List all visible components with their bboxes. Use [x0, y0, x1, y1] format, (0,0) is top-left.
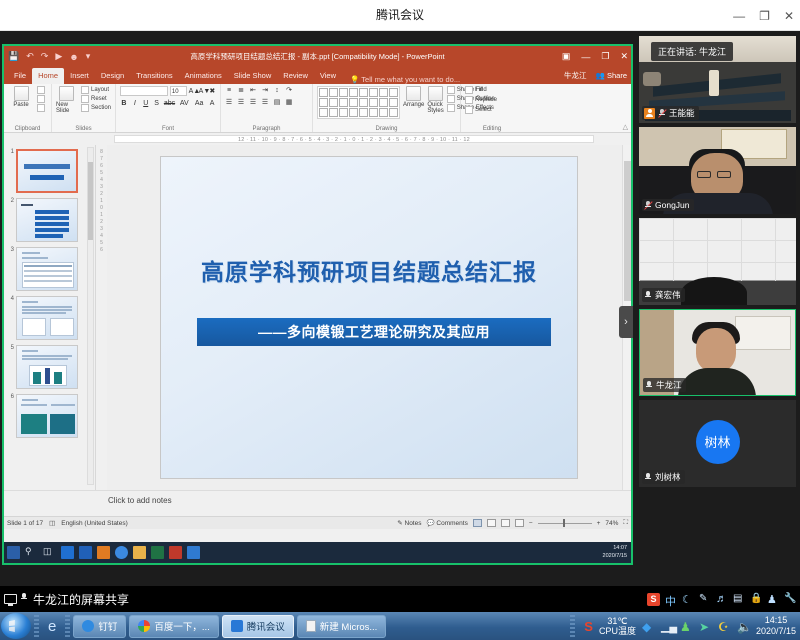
thumbnail-preview[interactable]	[16, 247, 78, 291]
tab-transitions[interactable]: Transitions	[130, 68, 178, 84]
decrease-font-size-icon[interactable]: A▼	[199, 88, 207, 95]
share-status-icons	[4, 593, 29, 605]
shape-oval-icon	[369, 88, 378, 97]
slide-title-text[interactable]: 高原学科预研项目结题总结汇报	[161, 253, 577, 287]
participant-tile-gongjun[interactable]: GongJun	[639, 127, 796, 214]
screen: 腾讯会议 — ❐ ✕ 💾 ↶ ↷ ▶ ☻ ▾ 高原学科预研项目结题总结汇报 - …	[0, 0, 800, 640]
arrange-button[interactable]: Arrange	[403, 86, 424, 108]
shape-brace-right-icon	[369, 108, 378, 117]
shape-arrowdown-icon	[369, 98, 378, 107]
inner-windows-taskbar: ⚲ ◫ 14:07 2020/7/15	[4, 542, 631, 563]
app-icon[interactable]	[79, 546, 92, 559]
search-icon[interactable]: ⚲	[25, 546, 38, 559]
wrench-icon[interactable]: 🔧	[784, 593, 796, 605]
mic-icon[interactable]: ♬	[716, 593, 728, 605]
close-icon[interactable]: ✕	[784, 10, 794, 22]
taskbar-separator	[34, 615, 39, 637]
tell-me-placeholder: Tell me what you want to do...	[361, 75, 460, 84]
start-icon[interactable]	[7, 546, 20, 559]
store-icon[interactable]	[61, 546, 74, 559]
participant-tile-gonghongwei[interactable]: 龚宏伟	[639, 218, 796, 305]
underline-button[interactable]: U	[142, 100, 150, 107]
thumbnail-number: 6	[6, 394, 16, 400]
vertical-ruler-ticks: 876543210123456	[100, 149, 103, 253]
thumbnail-item-5[interactable]: 5	[6, 345, 93, 389]
layout-button[interactable]: Layout	[81, 86, 111, 94]
shape-gallery[interactable]	[317, 86, 400, 119]
shape-wave-icon	[349, 108, 358, 117]
powerpoint-titlebar: 💾 ↶ ↷ ▶ ☻ ▾ 高原学科预研项目结题总结汇报 - 副本.ppt [Com…	[4, 46, 631, 67]
cpu-temp-label: CPU温度	[599, 626, 636, 636]
person-icon[interactable]: ♟	[767, 593, 779, 605]
thumbnail-number: 3	[6, 247, 16, 253]
powerpoint-document-title: 高原学科预研项目结题总结汇报 - 副本.ppt [Compatibility M…	[4, 46, 631, 67]
select-button[interactable]: Select	[465, 106, 497, 114]
layout-label: Layout	[91, 87, 109, 93]
slide-counter: Slide 1 of 17	[7, 520, 43, 527]
tell-me-search-box[interactable]: 💡 Tell me what you want to do...	[342, 75, 460, 84]
participant-name: GongJun	[655, 200, 690, 210]
thumbnail-scrollbar-thumb[interactable]	[88, 162, 93, 240]
powerpoint-status-bar: Slide 1 of 17 ◫ English (United States) …	[4, 516, 631, 529]
thumbnail-preview[interactable]	[16, 198, 78, 242]
shape-line-icon	[339, 88, 348, 97]
tencent-meeting-icon	[231, 620, 243, 632]
powerpoint-window: 💾 ↶ ↷ ▶ ☻ ▾ 高原学科预研项目结题总结汇报 - 副本.ppt [Com…	[4, 46, 631, 563]
volume-icon[interactable]: 🔈	[737, 620, 750, 633]
arrange-label: Arrange	[403, 102, 424, 108]
slide-scrollbar-thumb[interactable]	[624, 161, 631, 301]
ribbon-group-clipboard: Paste Clipboard	[4, 84, 52, 132]
increase-font-size-icon[interactable]: A▲	[189, 88, 197, 95]
soft-keyboard-icon[interactable]: ✎	[699, 593, 711, 605]
participant-tile-niulongjiang[interactable]: 牛龙江	[639, 309, 796, 396]
tab-animations[interactable]: Animations	[179, 68, 228, 84]
group-label-font: Font	[116, 126, 220, 132]
notes-placeholder: Click to add notes	[108, 496, 172, 505]
group-label-editing: Editing	[461, 126, 523, 132]
chrome-green-icon[interactable]	[97, 546, 110, 559]
notes-label: Notes	[405, 520, 422, 527]
justify-icon[interactable]: ☰	[261, 98, 269, 106]
numbering-icon[interactable]: ≣	[237, 86, 245, 94]
ribbon-group-font: 10 A▲ A▼ ✖ B I U S abc AV Aa	[116, 84, 221, 132]
excel-icon[interactable]	[151, 546, 164, 559]
participant-label: 刘树林	[642, 470, 685, 484]
shape-fill-icon	[447, 86, 455, 94]
shape-brace-left-icon	[359, 108, 368, 117]
shape-more-icon	[379, 88, 388, 97]
shape-spacer-icon	[389, 98, 398, 107]
collapse-ribbon-icon[interactable]: △	[623, 123, 628, 131]
restore-icon[interactable]: ❐	[601, 51, 609, 62]
participant-label: GongJun	[642, 199, 694, 211]
lightbulb-icon: 💡	[350, 75, 359, 84]
line-spacing-icon[interactable]: ↕	[273, 87, 281, 94]
shape-scroll-icon	[389, 88, 398, 97]
minimize-icon[interactable]: —	[733, 10, 745, 22]
thumbnail-number: 5	[6, 345, 16, 351]
shape-triangle-icon	[329, 98, 338, 107]
powerpoint-icon[interactable]	[169, 546, 182, 559]
copy-button[interactable]	[37, 95, 45, 103]
chevron-right-icon: ›	[624, 316, 628, 328]
participant-name: 龚宏伟	[655, 289, 681, 301]
tab-home[interactable]: Home	[32, 68, 64, 84]
screen-share-label: 牛龙江的屏幕共享	[33, 591, 129, 608]
inner-taskbar-clock[interactable]: 14:07 2020/7/15	[603, 544, 627, 560]
new-slide-label: New Slide	[56, 102, 78, 114]
close-icon[interactable]: ✕	[620, 51, 628, 62]
ribbon-tab-strip: File Home Insert Design Transitions Anim…	[4, 67, 631, 84]
convert-to-smartart-icon[interactable]: ▦	[285, 98, 293, 106]
titlebar-right-controls: 牛龙江 👥 Share	[564, 70, 627, 81]
clock-date: 2020/7/15	[756, 626, 796, 636]
zoom-level: 74%	[605, 520, 618, 527]
ribbon-group-drawing: Arrange Quick Styles Shape Fill Shape Ou…	[313, 84, 461, 132]
character-spacing-button[interactable]: AV	[178, 100, 190, 107]
group-label-slides: Slides	[52, 126, 115, 132]
maximize-icon[interactable]: ❐	[759, 10, 770, 22]
paste-icon	[14, 86, 29, 101]
shape-outline-icon	[447, 95, 455, 103]
collapse-video-panel-button[interactable]: ›	[619, 306, 633, 338]
microphone-icon	[20, 593, 29, 605]
group-label-clipboard: Clipboard	[4, 126, 51, 132]
quick-styles-button[interactable]: Quick Styles	[427, 86, 443, 114]
inner-clock-time: 14:07	[603, 544, 627, 552]
shape-arrow-icon	[349, 88, 358, 97]
quick-launch-bar: e	[42, 618, 62, 635]
thumbnail-item-4[interactable]: 4	[6, 296, 93, 340]
input-method-tray: S 中 ☾ ✎ ♬ ▤ 🔒 ♟ 🔧	[647, 586, 796, 612]
thumbnail-preview[interactable]	[16, 149, 78, 193]
taskbar-button-label: 钉钉	[98, 619, 117, 633]
shape-arc-icon	[339, 108, 348, 117]
chrome-icon	[138, 620, 150, 632]
quick-styles-icon	[428, 86, 443, 101]
format-painter-icon	[37, 104, 45, 112]
meeting-icon[interactable]	[187, 546, 200, 559]
share-button[interactable]: 👥 Share	[596, 71, 627, 80]
tab-slide-show[interactable]: Slide Show	[228, 68, 278, 84]
reading-view-icon[interactable]	[501, 519, 510, 527]
vertical-ruler: 876543210123456	[96, 145, 107, 490]
group-label-paragraph: Paragraph	[221, 126, 312, 132]
notes-pane[interactable]: Click to add notes	[4, 490, 631, 516]
horizontal-ruler: 12 · 11 · 10 · 9 · 8 · 7 · 6 · 5 · 4 · 3…	[4, 133, 631, 145]
search-icon	[465, 86, 473, 94]
section-icon	[81, 104, 89, 112]
powerpoint-main-area: 1 2	[4, 145, 631, 490]
microphone-muted-icon	[658, 109, 666, 118]
shared-screen-region: 💾 ↶ ↷ ▶ ☻ ▾ 高原学科预研项目结题总结汇报 - 副本.ppt [Com…	[2, 44, 633, 565]
zoom-out-button[interactable]: −	[529, 520, 533, 527]
chrome-icon[interactable]	[115, 546, 128, 559]
thumbnail-number: 1	[6, 149, 16, 155]
microphone-icon	[644, 473, 652, 482]
language-indicator[interactable]: English (United States)	[61, 520, 127, 527]
select-icon	[465, 106, 473, 114]
meeting-window-title: 腾讯会议	[0, 0, 800, 31]
start-button[interactable]	[1, 613, 31, 639]
thumbnail-preview[interactable]	[16, 394, 78, 438]
shape-textbox-icon	[329, 88, 338, 97]
align-right-icon[interactable]: ☰	[249, 98, 257, 106]
thumbnail-item-6[interactable]: 6	[6, 394, 93, 438]
clear-formatting-icon[interactable]: ✖	[209, 87, 216, 95]
cpu-temp-value: 31℃	[607, 616, 627, 626]
ribbon-group-paragraph: ≡ ≣ ⇤ ⇥ ↕ ↷ ☰ ☰ ☰ ☰ ▤	[221, 84, 313, 132]
speedup-icon[interactable]: ➤	[699, 620, 712, 633]
font-name-input[interactable]	[120, 86, 168, 96]
word-doc-icon	[306, 620, 316, 632]
reset-icon	[81, 95, 89, 103]
bold-button[interactable]: B	[120, 100, 128, 107]
slideshow-icon[interactable]	[515, 519, 524, 527]
account-name[interactable]: 牛龙江	[564, 70, 587, 81]
paste-button[interactable]: Paste	[8, 86, 34, 108]
ribbon-display-options-icon[interactable]: ▣	[562, 51, 571, 62]
participant-video-strip: 正在讲话: 牛龙江 王能能	[637, 34, 798, 584]
section-button[interactable]: Section	[81, 104, 111, 112]
shape-rect-icon	[319, 88, 328, 97]
shape-square-icon	[359, 88, 368, 97]
select-label: Select	[475, 107, 492, 113]
font-size-input[interactable]: 10	[170, 86, 187, 96]
taskbar-separator	[65, 615, 70, 637]
tab-file[interactable]: File	[8, 68, 32, 84]
copy-icon	[37, 95, 45, 103]
tray-separator	[570, 615, 575, 637]
shape-lightning-icon	[329, 108, 338, 117]
network-icon[interactable]: ▁▄	[661, 620, 674, 633]
bullets-icon[interactable]: ≡	[225, 87, 233, 94]
ie-icon[interactable]: e	[48, 618, 56, 635]
ribbon-group-editing: Find Replace Select Editing	[461, 84, 523, 132]
italic-button[interactable]: I	[131, 100, 139, 107]
tab-design[interactable]: Design	[95, 68, 130, 84]
participant-name: 王能能	[669, 107, 695, 119]
horizontal-ruler-ticks: 12 · 11 · 10 · 9 · 8 · 7 · 6 · 5 · 4 · 3…	[114, 135, 594, 143]
normal-view-icon[interactable]	[473, 519, 482, 527]
panel-icon[interactable]: ▤	[733, 593, 745, 605]
slide-editing-stage[interactable]: 高原学科预研项目结题总结汇报 ——多向模锻工艺理论研究及其应用	[107, 145, 631, 490]
current-slide[interactable]: 高原学科预研项目结题总结汇报 ——多向模锻工艺理论研究及其应用	[160, 156, 578, 479]
shape-dropdown-icon	[379, 98, 388, 107]
shape-effects-icon	[447, 104, 455, 112]
host-icon	[644, 108, 655, 119]
taskbar-button-label: 百度一下，...	[154, 619, 209, 633]
thumbnail-preview[interactable]	[16, 345, 78, 389]
microphone-muted-icon	[644, 201, 652, 210]
tab-review[interactable]: Review	[277, 68, 314, 84]
thumbnail-number: 4	[6, 296, 16, 302]
system-tray: S 31℃ CPU温度 ◆ ▁▄ ♟ ➤ ☪ 🔈 14:15 2020/7/15	[567, 612, 800, 640]
slide-subtitle-text[interactable]: ——多向模锻工艺理论研究及其应用	[197, 318, 551, 346]
clock-time: 14:15	[765, 615, 788, 625]
moon-icon[interactable]: ☾	[682, 593, 694, 605]
replace-button[interactable]: Replace	[465, 96, 497, 104]
zoom-slider[interactable]	[538, 519, 592, 527]
shape-rightangle-icon	[339, 98, 348, 107]
taskbar-button-tencent-meeting[interactable]: 腾讯会议	[222, 615, 294, 638]
thumbnail-item-2[interactable]: 2	[6, 198, 93, 242]
cpu-temperature-widget[interactable]: 31℃ CPU温度	[599, 616, 636, 636]
shadow-button[interactable]: S	[153, 100, 161, 107]
meeting-window-controls: — ❐ ✕	[733, 0, 794, 31]
participant-label: 王能能	[642, 106, 699, 120]
comments-label: Comments	[436, 520, 467, 527]
sogou-tray-icon[interactable]: S	[584, 619, 593, 634]
taskbar-button-word-document[interactable]: 新建 Micros...	[297, 615, 387, 638]
speaking-banner: 正在讲话: 牛龙江	[651, 42, 733, 61]
new-slide-icon	[59, 86, 74, 101]
shape-expand-icon	[379, 108, 388, 117]
participant-name: 刘树林	[655, 471, 681, 483]
new-slide-button[interactable]: New Slide	[56, 86, 78, 114]
strikethrough-button[interactable]: abc	[164, 100, 176, 107]
increase-indent-icon[interactable]: ⇥	[261, 86, 269, 94]
quick-styles-label: Quick Styles	[427, 102, 443, 114]
align-left-icon[interactable]: ☰	[225, 98, 233, 106]
text-direction-icon[interactable]: ↷	[285, 86, 293, 94]
powerpoint-window-controls: ▣ — ❐ ✕	[562, 46, 628, 67]
find-label: Find	[475, 87, 487, 93]
avatar: 树林	[696, 420, 740, 464]
taskbar-button-baidu[interactable]: 百度一下，...	[129, 615, 218, 638]
ribbon: Paste Clipboard	[4, 84, 631, 133]
thumbnail-item-3[interactable]: 3	[6, 247, 93, 291]
arrange-icon	[406, 86, 421, 101]
decrease-indent-icon[interactable]: ⇤	[249, 86, 257, 94]
thumbnail-scrollbar[interactable]	[87, 147, 94, 485]
participant-label: 龚宏伟	[642, 288, 685, 302]
slide-thumbnail-pane[interactable]: 1 2	[4, 145, 96, 490]
comments-button[interactable]: 💬 Comments	[426, 519, 467, 527]
taskbar-button-dingtalk[interactable]: 钉钉	[73, 615, 126, 638]
participant-name: 牛龙江	[656, 379, 682, 391]
reset-button[interactable]: Reset	[81, 95, 111, 103]
reset-label: Reset	[91, 96, 107, 102]
sogou-input-icon[interactable]: S	[647, 593, 660, 606]
tab-insert[interactable]: Insert	[64, 68, 95, 84]
taskbar-button-label: 腾讯会议	[247, 619, 285, 633]
thumbnail-number: 2	[6, 198, 16, 204]
layout-icon	[81, 86, 89, 94]
dingtalk-tray-icon[interactable]: ◆	[642, 620, 655, 633]
format-painter-button[interactable]	[37, 104, 45, 112]
accessibility-icon[interactable]: ◫	[49, 519, 55, 527]
font-color-button[interactable]: A	[208, 100, 216, 107]
security-icon[interactable]: ♟	[680, 620, 693, 633]
inner-clock-date: 2020/7/15	[603, 552, 627, 560]
shape-plus-icon	[359, 98, 368, 107]
paste-label: Paste	[13, 102, 28, 108]
tab-view[interactable]: View	[314, 68, 342, 84]
find-button[interactable]: Find	[465, 86, 497, 94]
taskbar-button-label: 新建 Micros...	[320, 619, 378, 633]
minimize-icon[interactable]: —	[581, 52, 590, 62]
shape-pentagon-icon	[319, 108, 328, 117]
shape-blank-icon	[389, 108, 398, 117]
shape-curve-icon	[349, 98, 358, 107]
slide-sorter-icon[interactable]	[487, 519, 496, 527]
dingtalk-icon	[82, 620, 94, 632]
microphone-icon	[645, 381, 653, 390]
task-view-icon[interactable]: ◫	[43, 546, 56, 559]
lock-icon[interactable]: 🔒	[750, 593, 762, 605]
group-label-drawing: Drawing	[313, 126, 460, 132]
section-label: Section	[91, 105, 111, 111]
replace-label: Replace	[475, 97, 497, 103]
fit-to-window-icon[interactable]: ⛶	[623, 519, 628, 527]
ribbon-group-slides: New Slide Layout Reset Section Slides	[52, 84, 116, 132]
meeting-window-titlebar: 腾讯会议 — ❐ ✕	[0, 0, 800, 31]
screen-share-icon	[4, 594, 17, 604]
microphone-icon	[644, 291, 652, 300]
align-center-icon[interactable]: ☰	[237, 98, 245, 106]
thumbnail-item-1[interactable]: 1	[6, 149, 93, 193]
shape-rounded-icon	[319, 98, 328, 107]
replace-icon	[465, 96, 473, 104]
cut-icon	[37, 86, 45, 94]
chinese-mode-icon[interactable]: 中	[665, 593, 677, 605]
participant-label: 牛龙江	[643, 378, 686, 392]
change-case-button[interactable]: Aa	[193, 100, 205, 107]
notes-button[interactable]: ✎ Notes	[397, 519, 421, 527]
update-icon[interactable]: ☪	[718, 620, 731, 633]
columns-icon[interactable]: ▤	[273, 98, 281, 106]
share-label: Share	[607, 71, 627, 80]
thumbnail-preview[interactable]	[16, 296, 78, 340]
participant-tile-liushulin[interactable]: 树林 刘树林	[639, 400, 796, 487]
explorer-icon[interactable]	[133, 546, 146, 559]
zoom-in-button[interactable]: +	[597, 520, 601, 527]
taskbar-clock[interactable]: 14:15 2020/7/15	[756, 615, 796, 637]
cut-button[interactable]	[37, 86, 45, 94]
